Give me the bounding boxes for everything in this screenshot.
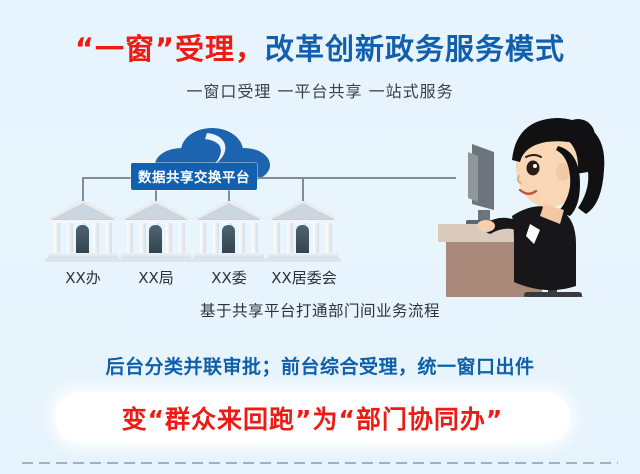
page-title: “一窗”受理，改革创新政务服务模式 bbox=[0, 34, 640, 66]
poster-canvas: “一窗”受理，改革创新政务服务模式 一窗口受理 一平台共享 一站式服务 数据共享… bbox=[0, 0, 640, 474]
government-building-icon bbox=[46, 199, 120, 261]
highlight-pill: 变“群众来回跑”为“部门协同办” bbox=[55, 392, 570, 443]
government-building-icon bbox=[119, 199, 193, 261]
government-building-icon bbox=[192, 199, 266, 261]
office-worker-at-computer-icon bbox=[420, 112, 630, 297]
sharing-platform-diagram: 数据共享交换平台 bbox=[0, 125, 400, 300]
department-label-3: XX居委会 bbox=[259, 267, 349, 288]
bottom-dashed-divider bbox=[22, 462, 618, 464]
header: “一窗”受理，改革创新政务服务模式 一窗口受理 一平台共享 一站式服务 bbox=[0, 34, 640, 102]
page-title-blue: 改革创新政务服务模式 bbox=[265, 32, 565, 66]
process-slogan: 后台分类并联审批；前台综合受理，统一窗口出件 bbox=[0, 352, 640, 379]
department-building-row bbox=[0, 199, 400, 267]
platform-label-chip: 数据共享交换平台 bbox=[131, 163, 257, 190]
department-label-0: XX办 bbox=[46, 267, 120, 288]
department-label-1: XX局 bbox=[119, 267, 193, 288]
page-subtitle: 一窗口受理 一平台共享 一站式服务 bbox=[0, 78, 640, 102]
connector-bus-right bbox=[304, 177, 456, 179]
government-building-icon bbox=[266, 199, 340, 261]
connector-drop-1 bbox=[82, 177, 84, 201]
diagram-caption: 基于共享平台打通部门间业务流程 bbox=[0, 299, 640, 321]
monitor-shape bbox=[466, 144, 502, 226]
person-head-shape bbox=[512, 118, 604, 224]
highlight-pill-text: 变“群众来回跑”为“部门协同办” bbox=[55, 392, 570, 443]
department-label-2: XX委 bbox=[192, 267, 266, 288]
connector-drop-4 bbox=[302, 177, 304, 201]
page-title-red: “一窗”受理， bbox=[75, 32, 265, 66]
